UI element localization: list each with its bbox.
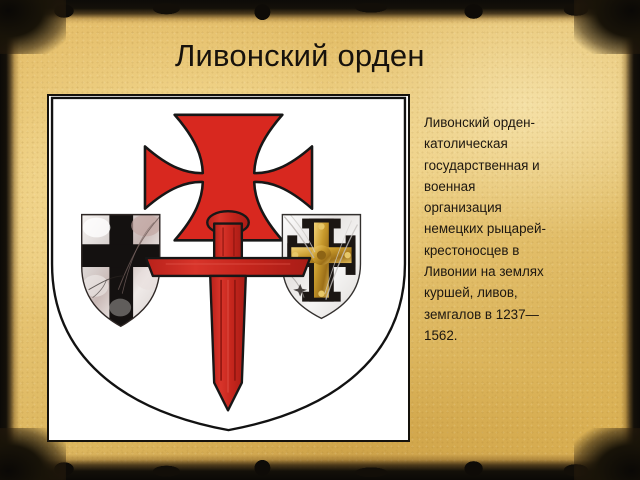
body-paragraph: Ливонский орден- католическая государств… <box>424 112 600 346</box>
page-title: Ливонский орден <box>175 38 425 74</box>
burnt-ragged-top <box>0 0 640 22</box>
burnt-edge-top <box>0 0 640 26</box>
burnt-corner-top-left <box>0 0 66 54</box>
burnt-edge-bottom <box>0 450 640 480</box>
burnt-edge-left <box>0 0 22 480</box>
burnt-corner-bottom-right <box>574 428 640 480</box>
slide: Ливонский орден <box>0 0 640 480</box>
coat-of-arms-image <box>47 94 410 442</box>
burnt-corner-top-right <box>574 0 640 54</box>
burnt-edge-right <box>618 0 640 480</box>
burnt-ragged-bottom <box>0 458 640 480</box>
coat-of-arms-svg <box>49 96 408 440</box>
